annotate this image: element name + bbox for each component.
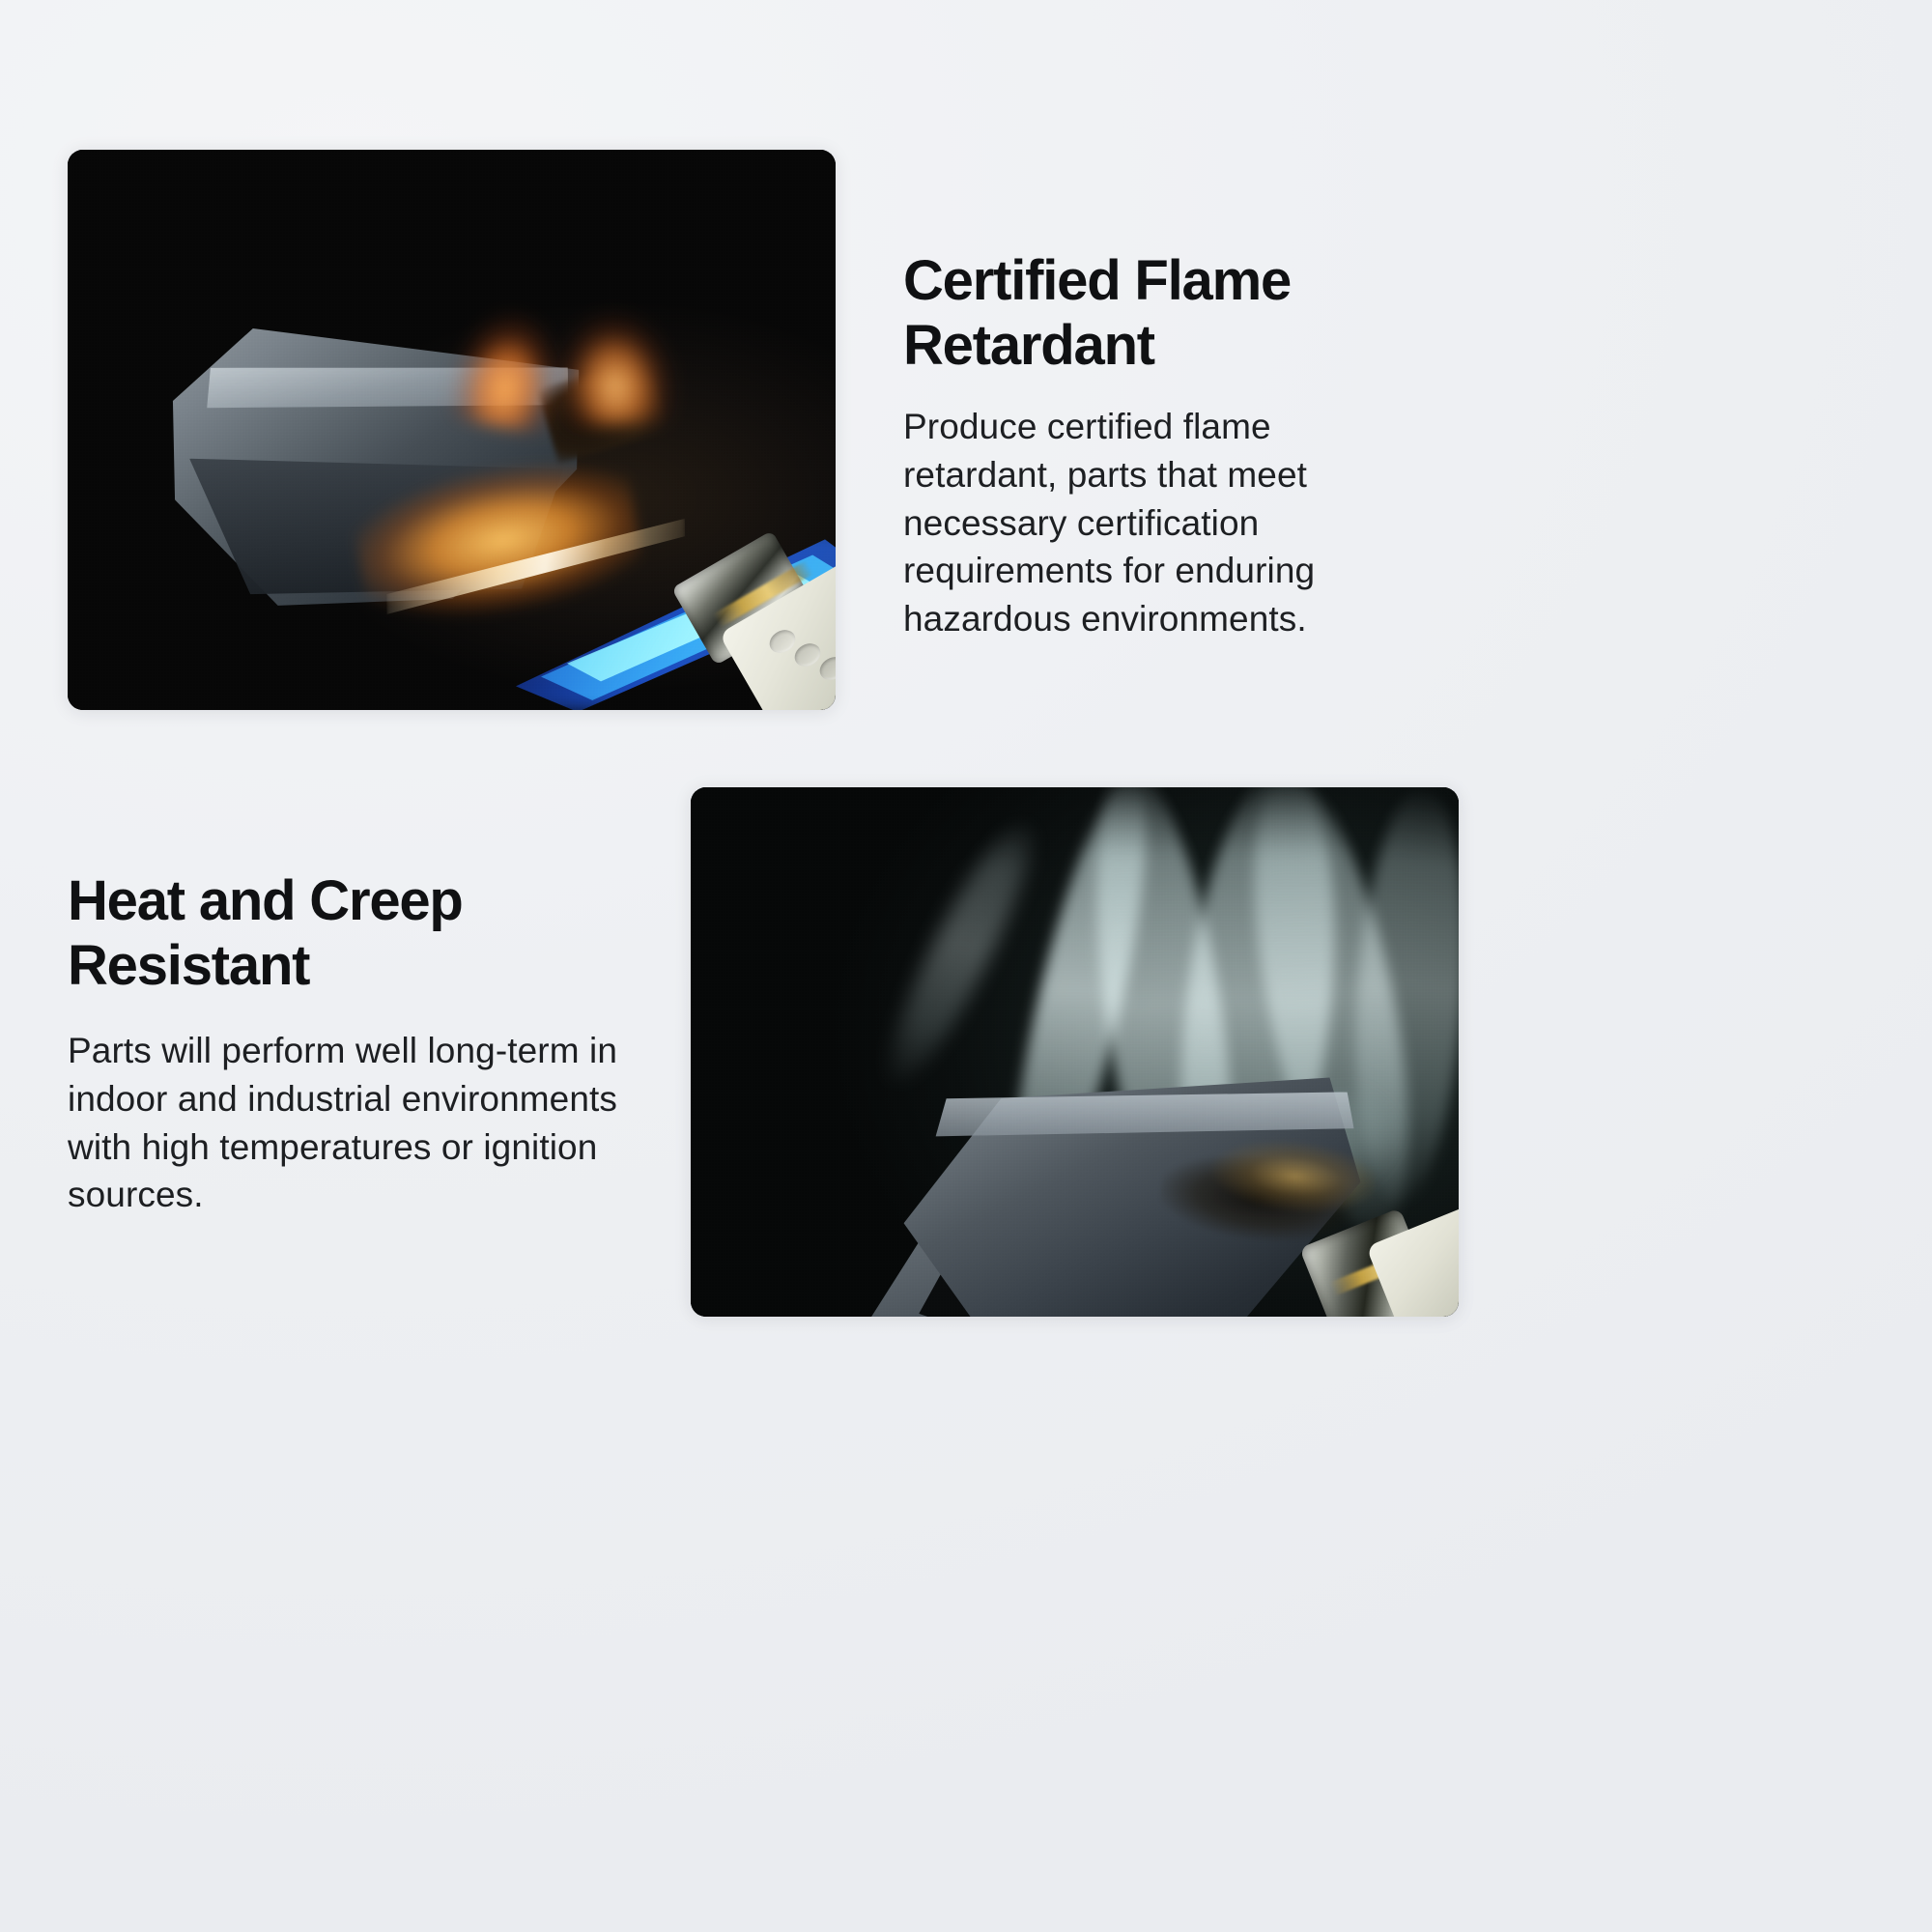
smoke-test-photo — [691, 787, 1459, 1317]
feature-description: Parts will perform well long-term in ind… — [68, 1027, 647, 1218]
feature-description: Produce certified flame retardant, parts… — [903, 403, 1430, 642]
orange-flame-lick — [545, 295, 689, 429]
flame-test-photo — [68, 150, 836, 710]
feature-block-heat-and-creep-resistant: Heat and Creep Resistant Parts will perf… — [68, 869, 647, 1219]
feature-title: Certified Flame Retardant — [903, 249, 1430, 378]
feature-block-certified-flame-retardant: Certified Flame Retardant Produce certif… — [903, 249, 1430, 642]
feature-title: Heat and Creep Resistant — [68, 869, 647, 998]
